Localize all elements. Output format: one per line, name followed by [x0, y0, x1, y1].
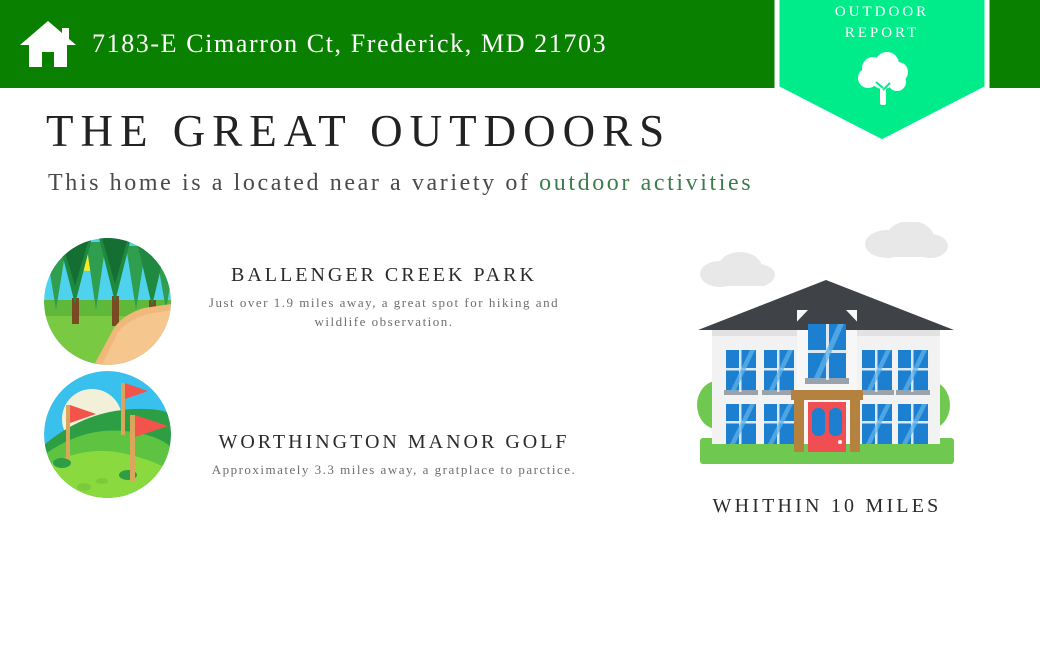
- list-item[interactable]: BALLENGER CREEK PARK Just over 1.9 miles…: [44, 238, 604, 371]
- place-text-block: WORTHINGTON MANOR GOLF Approximately 3.3…: [194, 431, 594, 479]
- badge-label: OUTDOOR REPORT: [773, 2, 991, 44]
- place-description: Just over 1.9 miles away, a great spot f…: [184, 293, 584, 331]
- house-panel: WHITHIN 10 MILES: [672, 222, 982, 518]
- golf-course-icon: [44, 371, 171, 498]
- list-item[interactable]: WORTHINGTON MANOR GOLF Approximately 3.3…: [44, 371, 604, 504]
- house-caption: WHITHIN 10 MILES: [672, 495, 982, 518]
- badge-line-1: OUTDOOR: [773, 2, 991, 23]
- house-illustration-icon: [682, 222, 972, 477]
- place-name: WORTHINGTON MANOR GOLF: [194, 431, 594, 454]
- forest-park-icon: [44, 238, 171, 365]
- home-icon: [18, 18, 78, 70]
- badge-line-2: REPORT: [773, 23, 991, 44]
- property-address: 7183-E Cimarron Ct, Frederick, MD 21703: [92, 29, 607, 59]
- tree-icon: [857, 52, 909, 106]
- place-text-block: BALLENGER CREEK PARK Just over 1.9 miles…: [184, 264, 584, 331]
- outdoor-report-badge: OUTDOOR REPORT: [773, 0, 991, 146]
- subtitle-accent-text: outdoor activities: [539, 170, 753, 196]
- subtitle-plain-text: This home is a located near a variety of: [48, 170, 539, 196]
- places-list: BALLENGER CREEK PARK Just over 1.9 miles…: [44, 238, 604, 504]
- place-description: Approximately 3.3 miles away, a gratplac…: [194, 460, 594, 479]
- place-name: BALLENGER CREEK PARK: [184, 264, 584, 287]
- page-subtitle: This home is a located near a variety of…: [48, 170, 946, 197]
